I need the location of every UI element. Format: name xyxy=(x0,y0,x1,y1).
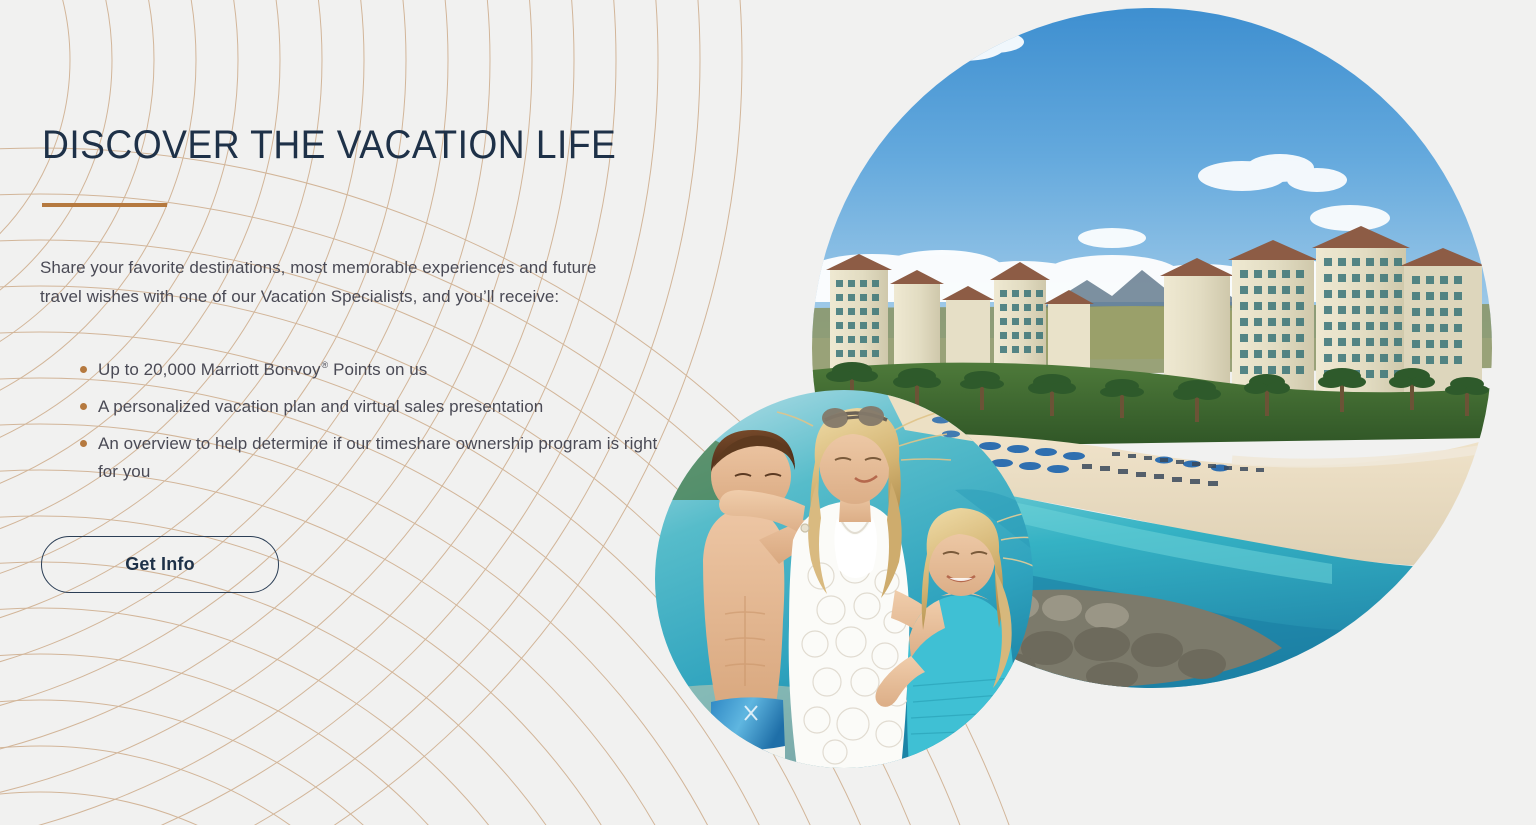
title-divider-rule xyxy=(42,203,167,207)
intro-paragraph: Share your favorite destinations, most m… xyxy=(40,254,610,311)
registered-trademark-icon: ® xyxy=(321,360,334,370)
benefit-text-after: An overview to help determine if our tim… xyxy=(98,434,657,481)
benefit-text-after: Points on us xyxy=(333,360,427,379)
hero-copy: DISCOVER THE VACATION LIFE Share your fa… xyxy=(40,0,680,825)
hero-section: DISCOVER THE VACATION LIFE Share your fa… xyxy=(0,0,1536,825)
list-item: An overview to help determine if our tim… xyxy=(60,430,660,486)
page-title: DISCOVER THE VACATION LIFE xyxy=(42,122,616,168)
bullet-dot-icon xyxy=(80,366,87,373)
benefit-text-before: Up to 20,000 Marriott Bonvoy xyxy=(98,360,321,379)
bullet-dot-icon xyxy=(80,403,87,410)
family-photo-circle xyxy=(655,390,1033,768)
list-item: A personalized vacation plan and virtual… xyxy=(60,393,660,421)
list-item: Up to 20,000 Marriott Bonvoy®Points on u… xyxy=(60,356,660,384)
bullet-dot-icon xyxy=(80,440,87,447)
benefit-text-after: A personalized vacation plan and virtual… xyxy=(98,397,543,416)
benefits-list: Up to 20,000 Marriott Bonvoy®Points on u… xyxy=(60,356,660,495)
get-info-button[interactable]: Get Info xyxy=(41,536,279,593)
